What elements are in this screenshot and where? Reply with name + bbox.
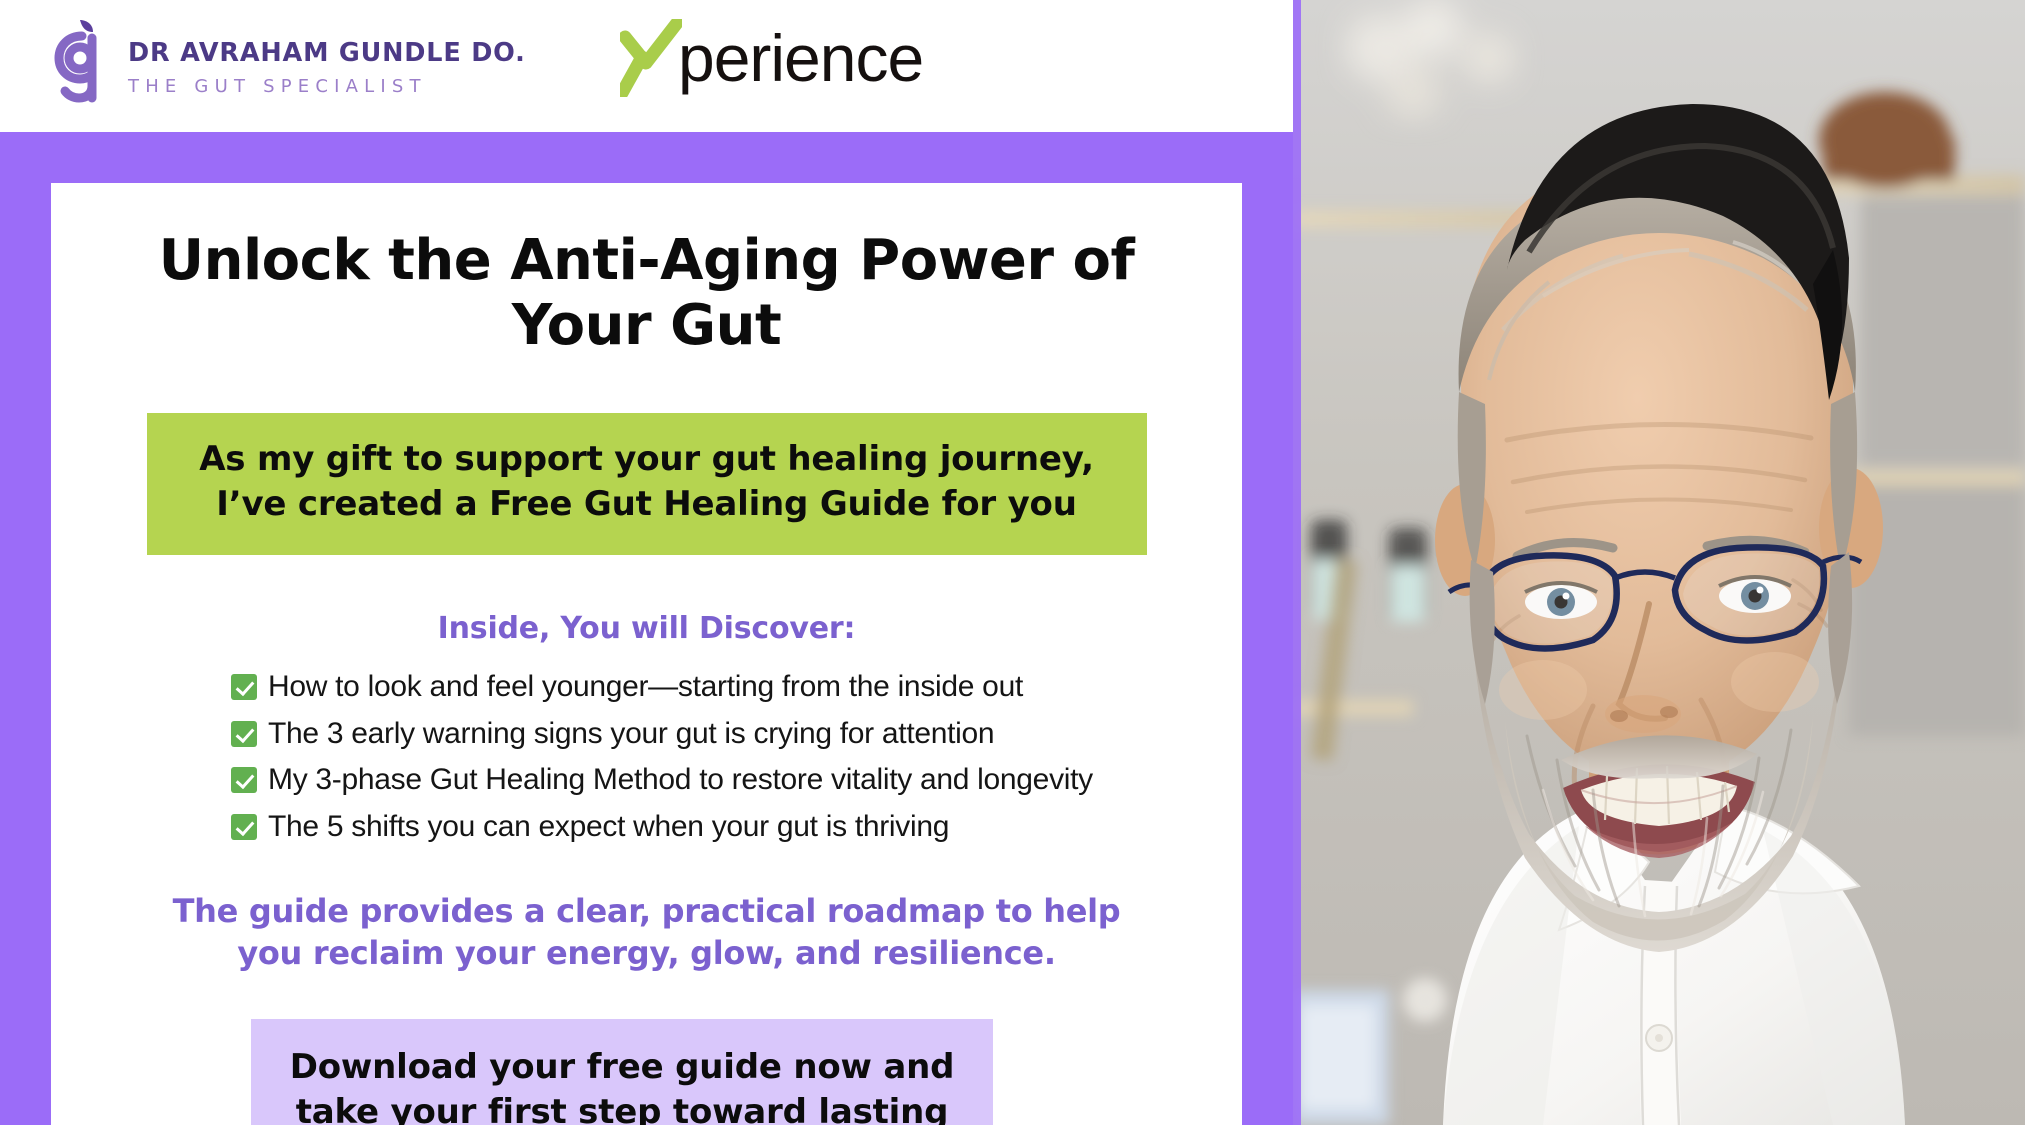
frame-left-bar [0, 132, 51, 1125]
discover-heading: Inside, You will Discover: [91, 611, 1202, 646]
page-title: Unlock the Anti-Aging Power of Your Gut [91, 183, 1202, 359]
green-checkmark-icon [231, 767, 257, 793]
list-item: How to look and feel younger—starting fr… [231, 668, 1202, 706]
gut-apple-g-icon [52, 18, 114, 106]
roadmap-paragraph: The guide provides a clear, practical ro… [142, 890, 1152, 975]
list-item-label: My 3-phase Gut Healing Method to restore… [268, 761, 1093, 799]
list-item: My 3-phase Gut Healing Method to restore… [231, 761, 1202, 799]
frame-right-bar [1242, 132, 1293, 1125]
green-check-x-icon [620, 19, 682, 97]
list-item: The 5 shifts you can expect when your gu… [231, 808, 1202, 846]
content-card: Unlock the Anti-Aging Power of Your Gut … [51, 183, 1242, 1125]
cta-text: Download your free guide now and take yo… [275, 1045, 969, 1125]
green-checkmark-icon [231, 721, 257, 747]
green-checkmark-icon [231, 674, 257, 700]
brand-text: DR AVRAHAM GUNDLE DO. THE GUT SPECIALIST [128, 24, 526, 100]
cta-band[interactable]: Download your free guide now and take yo… [251, 1019, 993, 1125]
list-item: The 3 early warning signs your gut is cr… [231, 715, 1202, 753]
xperience-logo[interactable]: perience [620, 18, 923, 98]
brand-logo[interactable]: DR AVRAHAM GUNDLE DO. THE GUT SPECIALIST [52, 18, 526, 106]
gift-callout-band: As my gift to support your gut healing j… [147, 413, 1147, 555]
list-item-label: How to look and feel younger—starting fr… [268, 668, 1023, 706]
promo-slide: DR AVRAHAM GUNDLE DO. THE GUT SPECIALIST… [0, 0, 2025, 1125]
frame-top-bar [0, 132, 1293, 183]
green-checkmark-icon [231, 814, 257, 840]
portrait-photo [1293, 0, 2025, 1125]
benefits-list: How to look and feel younger—starting fr… [91, 668, 1202, 846]
gift-callout-text: As my gift to support your gut healing j… [175, 437, 1119, 527]
xperience-wordmark: perience [678, 25, 923, 91]
list-item-label: The 5 shifts you can expect when your gu… [268, 808, 949, 846]
content-column: DR AVRAHAM GUNDLE DO. THE GUT SPECIALIST… [0, 0, 1293, 1125]
brand-name: DR AVRAHAM GUNDLE DO. [128, 40, 526, 67]
list-item-label: The 3 early warning signs your gut is cr… [268, 715, 994, 753]
header-bar: DR AVRAHAM GUNDLE DO. THE GUT SPECIALIST… [0, 0, 1293, 132]
brand-tagline: THE GUT SPECIALIST [128, 73, 526, 100]
